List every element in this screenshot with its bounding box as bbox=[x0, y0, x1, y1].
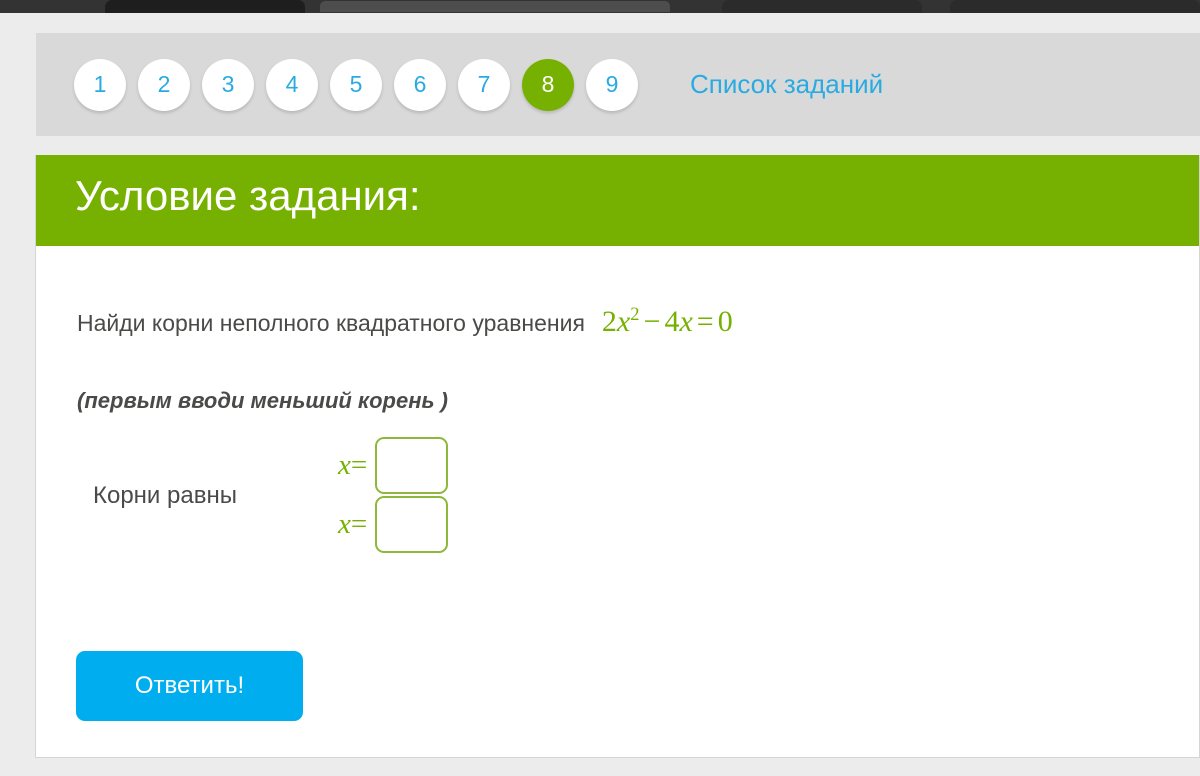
browser-tab-tertiary[interactable] bbox=[950, 0, 1200, 13]
task-navigation-items: 1 2 3 4 5 6 7 8 9 Список заданий bbox=[74, 33, 883, 136]
root-1-prefix: x= bbox=[338, 449, 367, 482]
equation-equals-sign: = bbox=[697, 305, 714, 338]
equation-rhs: 0 bbox=[718, 305, 733, 338]
root-2-input[interactable] bbox=[375, 496, 448, 553]
answer-row-first: x= bbox=[338, 436, 448, 495]
task-card-body: Найди корни неполного квадратного уравне… bbox=[36, 246, 1199, 757]
task-list-link[interactable]: Список заданий bbox=[690, 69, 883, 100]
root-2-prefix: x= bbox=[338, 508, 367, 541]
task-nav-item-6[interactable]: 6 bbox=[394, 59, 446, 111]
answer-row-second: x= bbox=[338, 495, 448, 554]
task-nav-item-2[interactable]: 2 bbox=[138, 59, 190, 111]
root-1-equals: = bbox=[351, 449, 367, 481]
submit-answer-button[interactable]: Ответить! bbox=[76, 651, 303, 721]
root-2-equals: = bbox=[351, 508, 367, 540]
equation-coefficient-b: 4 bbox=[664, 305, 679, 338]
task-nav-item-5[interactable]: 5 bbox=[330, 59, 382, 111]
equation-coefficient-a: 2 bbox=[602, 305, 617, 338]
task-nav-item-8-active[interactable]: 8 bbox=[522, 59, 574, 111]
task-nav-item-3[interactable]: 3 bbox=[202, 59, 254, 111]
equation-display: 2x2−4x=0 bbox=[602, 304, 733, 339]
question-line: Найди корни неполного квадратного уравне… bbox=[77, 304, 733, 339]
equation-variable-x: x bbox=[617, 305, 630, 338]
task-nav-item-7[interactable]: 7 bbox=[458, 59, 510, 111]
task-nav-item-4[interactable]: 4 bbox=[266, 59, 318, 111]
hint-text: (первым вводи меньший корень ) bbox=[77, 388, 448, 414]
browser-tab-active[interactable] bbox=[105, 0, 305, 13]
browser-tab-secondary[interactable] bbox=[722, 0, 922, 13]
task-nav-item-9[interactable]: 9 bbox=[586, 59, 638, 111]
task-card: Условие задания: Найди корни неполного к… bbox=[35, 155, 1200, 758]
task-card-header: Условие задания: bbox=[36, 155, 1199, 246]
equation-variable-x2: x bbox=[679, 305, 692, 338]
browser-chrome-strip bbox=[0, 0, 1200, 13]
equation-exponent: 2 bbox=[630, 304, 639, 325]
answer-fields: x= x= bbox=[338, 436, 448, 554]
root-2-variable: x bbox=[338, 508, 351, 540]
equation-minus-sign: − bbox=[644, 305, 661, 338]
browser-omnibox[interactable] bbox=[320, 1, 670, 12]
root-1-variable: x bbox=[338, 449, 351, 481]
answer-label: Корни равны bbox=[93, 482, 237, 510]
answer-block: Корни равны x= x= bbox=[36, 436, 1199, 566]
task-navigation-bar: 1 2 3 4 5 6 7 8 9 Список заданий bbox=[36, 33, 1200, 136]
task-nav-item-1[interactable]: 1 bbox=[74, 59, 126, 111]
question-text: Найди корни неполного квадратного уравне… bbox=[77, 310, 585, 337]
page-title: Условие задания: bbox=[75, 172, 421, 220]
root-1-input[interactable] bbox=[375, 437, 448, 494]
